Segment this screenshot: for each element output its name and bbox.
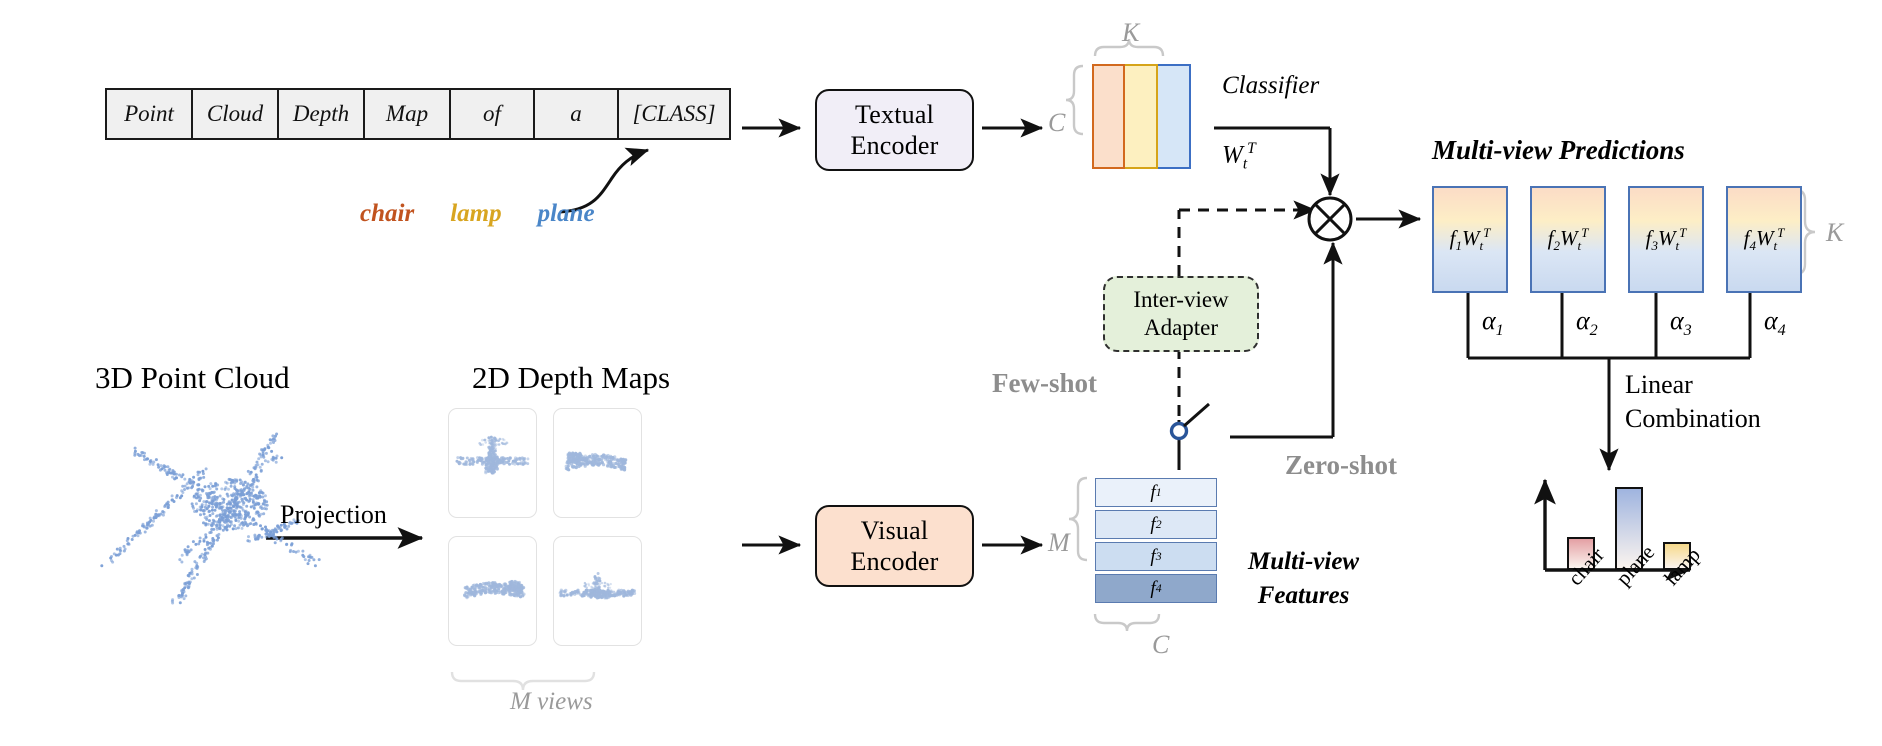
point-cloud-title: 3D Point Cloud (95, 360, 290, 396)
pred-4-wsup: T (1777, 225, 1784, 240)
pred-4-wsub: t (1773, 238, 1777, 253)
feature-box-4[interactable]: f4 (1095, 574, 1217, 603)
classifier-brace-c-label: C (1048, 108, 1065, 138)
prompt-token-1[interactable]: Point (107, 90, 193, 138)
pred-1-wsup: T (1483, 225, 1490, 240)
classifier-label: Classifier (1222, 72, 1319, 100)
zero-shot-label: Zero-shot (1285, 450, 1397, 481)
multi-view-predictions-title: Multi-view Predictions (1432, 135, 1685, 166)
textual-encoder-line2: Encoder (850, 130, 938, 161)
alpha-1-sub: 1 (1496, 322, 1504, 339)
features-caption-line1: Multi-view (1248, 545, 1359, 579)
alpha-2-label: α2 (1576, 306, 1598, 340)
alpha-4-sub: 4 (1778, 322, 1786, 339)
multi-view-features-caption: Multi-view Features (1248, 545, 1359, 613)
class-word-plane[interactable]: plane (538, 200, 595, 228)
alpha-3-sym: α (1670, 306, 1684, 335)
pred-1-w: W (1462, 226, 1480, 250)
linear-combination-line1: Linear (1625, 368, 1761, 402)
pred-2-wsup: T (1581, 225, 1588, 240)
alpha-1-sym: α (1482, 306, 1496, 335)
features-brace-c-label: C (1152, 630, 1169, 660)
prompt-token-row: Point Cloud Depth Map of a [CLASS] (105, 88, 731, 140)
classifier-column-chair (1092, 64, 1125, 169)
pred-3-w: W (1658, 226, 1676, 250)
prompt-token-6[interactable]: a (535, 90, 619, 138)
predictions-brace-k-label: K (1826, 218, 1843, 248)
prompt-token-3[interactable]: Depth (279, 90, 365, 138)
alpha-4-label: α4 (1764, 306, 1786, 340)
few-shot-label: Few-shot (992, 368, 1097, 399)
alpha-2-sub: 2 (1590, 322, 1598, 339)
inter-view-adapter-box[interactable]: Inter-view Adapter (1103, 276, 1259, 352)
depth-map-view-2[interactable] (553, 408, 642, 518)
pred-1-wsub: t (1479, 238, 1483, 253)
depth-map-view-3[interactable] (448, 536, 537, 646)
prompt-token-2[interactable]: Cloud (193, 90, 279, 138)
feature-box-1[interactable]: f1 (1095, 478, 1217, 507)
classifier-weight-label: WtT (1222, 140, 1256, 173)
prompt-token-4[interactable]: Map (365, 90, 451, 138)
m-views-caption: M views (510, 688, 593, 716)
classifier-weight-sup: T (1247, 140, 1256, 157)
linear-combination-line2: Combination (1625, 402, 1761, 436)
textual-encoder-box[interactable]: Textual Encoder (815, 89, 974, 171)
classifier-brace-k-label: K (1122, 18, 1139, 48)
classifier-weight-sub: t (1243, 155, 1247, 172)
class-word-chair[interactable]: chair (360, 200, 414, 228)
visual-encoder-box[interactable]: Visual Encoder (815, 505, 974, 587)
textual-encoder-line1: Textual (855, 99, 934, 130)
pred-2-wsub: t (1577, 238, 1581, 253)
feature-box-3[interactable]: f3 (1095, 542, 1217, 571)
class-word-lamp[interactable]: lamp (450, 200, 501, 228)
alpha-3-label: α3 (1670, 306, 1692, 340)
prediction-box-2[interactable]: f2WtT (1530, 186, 1606, 293)
alpha-1-label: α1 (1482, 306, 1504, 340)
prompt-token-5[interactable]: of (451, 90, 535, 138)
alpha-2-sym: α (1576, 306, 1590, 335)
feature-3-sub: 3 (1156, 550, 1162, 564)
depth-maps-title: 2D Depth Maps (472, 360, 670, 396)
feature-1-sub: 1 (1156, 486, 1162, 500)
prediction-box-4[interactable]: f4WtT (1726, 186, 1802, 293)
depth-map-view-1[interactable] (448, 408, 537, 518)
adapter-line2: Adapter (1144, 314, 1218, 342)
features-caption-line2: Features (1248, 579, 1359, 613)
prediction-box-3[interactable]: f3WtT (1628, 186, 1704, 293)
alpha-3-sub: 3 (1684, 322, 1692, 339)
classifier-column-lamp (1125, 64, 1158, 169)
feature-4-sub: 4 (1156, 582, 1162, 596)
classifier-weight-symbol: W (1222, 141, 1243, 168)
classifier-column-plane (1158, 64, 1191, 169)
visual-encoder-line1: Visual (861, 515, 929, 546)
visual-encoder-line2: Encoder (850, 546, 938, 577)
prompt-token-class[interactable]: [CLASS] (619, 90, 729, 138)
class-word-list: chair lamp plane (360, 200, 595, 228)
feature-box-2[interactable]: f2 (1095, 510, 1217, 539)
features-brace-m-label: M (1048, 528, 1070, 558)
pred-3-wsup: T (1679, 225, 1686, 240)
classifier-matrix (1092, 64, 1191, 169)
depth-map-view-4[interactable] (553, 536, 642, 646)
projection-label: Projection (280, 500, 387, 530)
feature-2-sub: 2 (1156, 518, 1162, 532)
linear-combination-label: Linear Combination (1625, 368, 1761, 436)
multi-view-prediction-boxes: f1WtT f2WtT f3WtT f4WtT (1432, 186, 1802, 293)
alpha-4-sym: α (1764, 306, 1778, 335)
prediction-box-1[interactable]: f1WtT (1432, 186, 1508, 293)
pred-3-wsub: t (1675, 238, 1679, 253)
prediction-bar-chart: chairplanelamp (1545, 470, 1745, 660)
depth-map-grid (448, 408, 640, 644)
multi-view-feature-stack: f1 f2 f3 f4 (1095, 478, 1217, 606)
pred-2-w: W (1560, 226, 1578, 250)
point-cloud-glyph (200, 528, 266, 572)
adapter-line1: Inter-view (1133, 286, 1228, 314)
pred-4-w: W (1756, 226, 1774, 250)
